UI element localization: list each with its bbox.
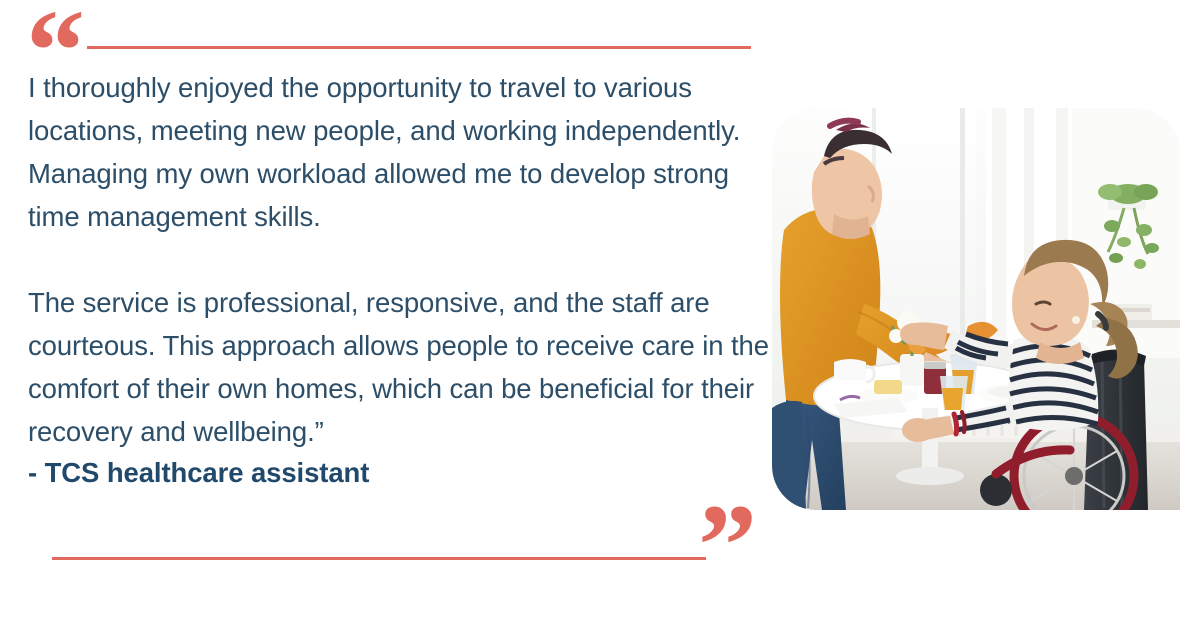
divider-top bbox=[87, 46, 751, 49]
photo-illustration bbox=[772, 108, 1180, 510]
quote-paragraph-1: I thoroughly enjoyed the opportunity to … bbox=[28, 66, 773, 238]
quote-paragraph-2: The service is professional, responsive,… bbox=[28, 281, 773, 453]
quote-text-block: I thoroughly enjoyed the opportunity to … bbox=[28, 66, 773, 493]
close-quote-icon: ” bbox=[698, 487, 755, 605]
testimonial-card: “ I thoroughly enjoyed the opportunity t… bbox=[0, 0, 1200, 627]
testimonial-photo bbox=[772, 108, 1180, 510]
quote-attribution: - TCS healthcare assistant bbox=[28, 453, 773, 493]
divider-bottom bbox=[52, 557, 706, 560]
quote-close-decoration: ” bbox=[40, 529, 780, 599]
